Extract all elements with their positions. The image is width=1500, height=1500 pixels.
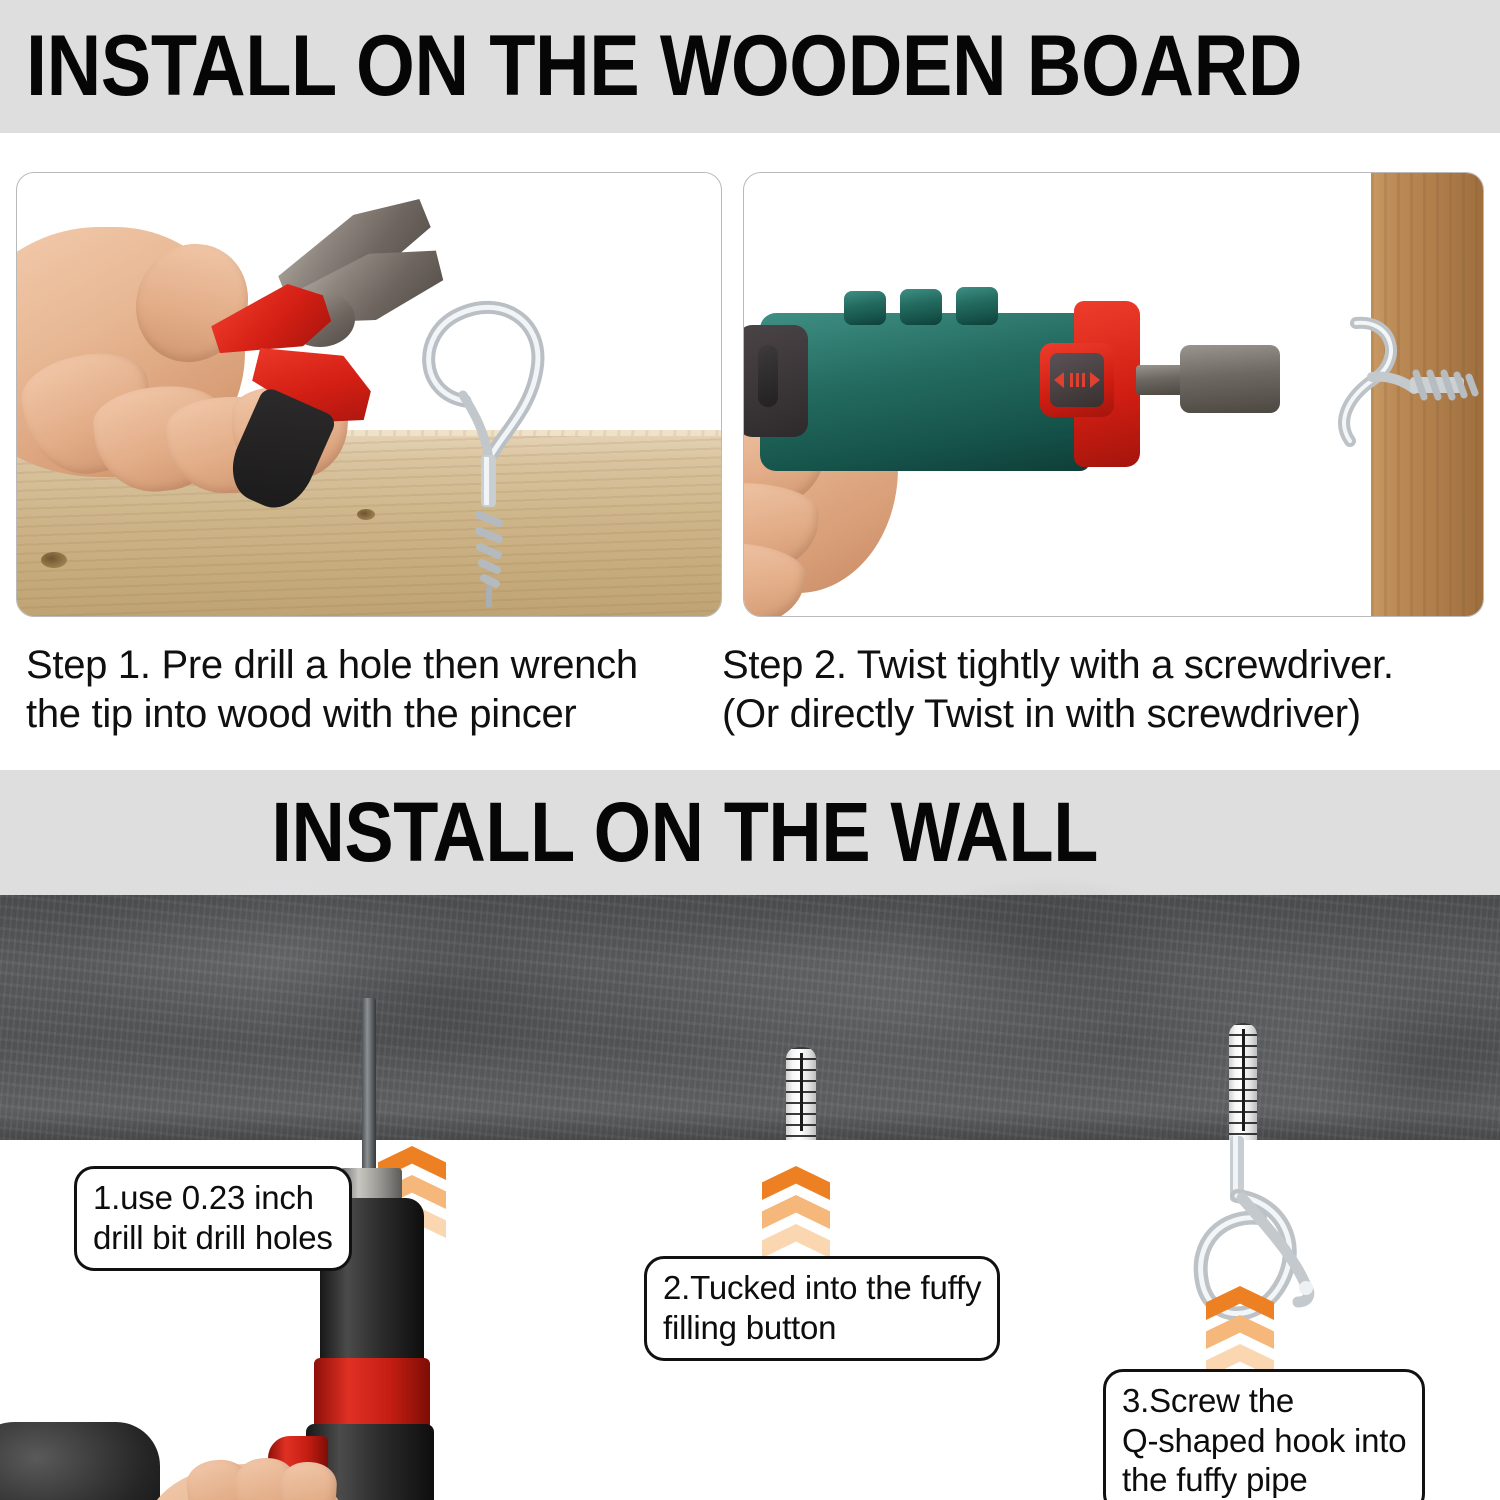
step-1-photo — [16, 172, 722, 617]
wall-title: INSTALL ON THE WALL — [272, 793, 1099, 873]
step-2-caption: Step 2. Twist tightly with a screwdriver… — [722, 641, 1482, 739]
wooden-board-section: Step 1. Pre drill a hole then wrench the… — [0, 133, 1500, 770]
step-1-caption: Step 1. Pre drill a hole then wrench the… — [26, 641, 716, 739]
chevron-up-icon — [762, 1195, 830, 1229]
vent-slot — [758, 345, 778, 407]
callout-2-line-2: filling button — [663, 1308, 981, 1348]
callout-step-2: 2.Tucked into the fuffy filling button — [644, 1256, 1000, 1361]
wood-knot — [41, 552, 67, 568]
chevron-up-icon — [1206, 1315, 1274, 1349]
wooden-board-section-header: INSTALL ON THE WOODEN BOARD — [0, 0, 1500, 133]
callout-step-3: 3.Screw the Q-shaped hook into the fuffy… — [1103, 1369, 1425, 1500]
wall-shadow — [1300, 995, 1500, 1145]
direction-arrows-icon — [1052, 365, 1102, 395]
chevron-up-icon — [762, 1224, 830, 1258]
step-1-caption-line-2: the tip into wood with the pincer — [26, 690, 716, 739]
chevron-arrows-step-2 — [762, 1166, 830, 1262]
step-1-caption-line-1: Step 1. Pre drill a hole then wrench — [26, 641, 716, 690]
drill-ridge — [900, 289, 942, 325]
callout-3-line-1: 3.Screw the — [1122, 1381, 1406, 1421]
wood-knot — [357, 509, 375, 520]
chevron-up-icon — [762, 1166, 830, 1200]
drill-shaft — [1136, 365, 1184, 395]
q-shaped-hook-screw — [405, 283, 565, 613]
drill-red-band — [314, 1358, 430, 1430]
anchor-slot — [800, 1053, 803, 1131]
drill-ridge — [844, 291, 886, 325]
anchor-slot — [1242, 1029, 1245, 1131]
callout-3-line-2: Q-shaped hook into — [1122, 1421, 1406, 1461]
wall-shadow — [260, 915, 600, 1075]
wooden-board-title: INSTALL ON THE WOODEN BOARD — [26, 26, 1302, 108]
callout-3-line-3: the fuffy pipe — [1122, 1460, 1406, 1500]
chevron-arrows-step-3 — [1206, 1286, 1274, 1382]
callout-2-line-1: 2.Tucked into the fuffy — [663, 1268, 981, 1308]
drill-ridge — [956, 287, 998, 325]
infographic-page: INSTALL ON THE WOODEN BOARD — [0, 0, 1500, 1500]
wall-anchor-right — [1229, 1023, 1257, 1143]
masonry-drill-bit — [362, 998, 376, 1178]
step-2-caption-line-2: (Or directly Twist in with screwdriver) — [722, 690, 1482, 739]
wall-lower-white-area: 1.use 0.23 inch drill bit drill holes 2.… — [0, 1140, 1500, 1500]
step-2-photo — [743, 172, 1484, 617]
drill-battery-pack — [0, 1422, 160, 1500]
wall-anchor-center — [786, 1047, 816, 1143]
callout-step-1: 1.use 0.23 inch drill bit drill holes — [74, 1166, 352, 1271]
callout-1-line-2: drill bit drill holes — [93, 1218, 333, 1258]
callout-1-line-1: 1.use 0.23 inch — [93, 1178, 333, 1218]
q-shaped-hook-screw — [1264, 303, 1484, 463]
chevron-up-icon — [1206, 1286, 1274, 1320]
concrete-wall — [0, 895, 1500, 1140]
step-2-caption-line-1: Step 2. Twist tightly with a screwdriver… — [722, 641, 1482, 690]
wall-shadow — [900, 875, 1200, 1025]
